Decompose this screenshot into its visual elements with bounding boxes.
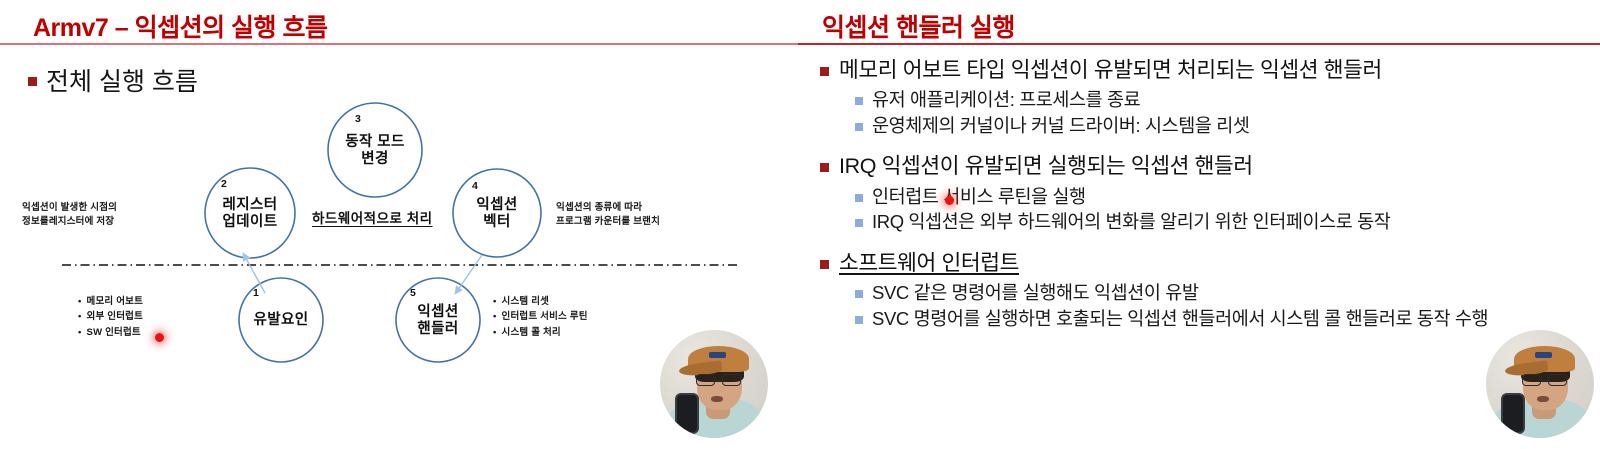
- square-bullet-icon: [855, 97, 863, 105]
- webcam-overlay-right[interactable]: [1486, 330, 1594, 438]
- circle-5-number: 5: [410, 287, 416, 299]
- bullet-lv2: 운영체제의 커널이나 커널 드라이버: 시스템을 리셋: [810, 115, 1600, 138]
- circle-1-label: 유발요인: [231, 312, 331, 329]
- bullet-lv1-label: 메모리 어보트 타입 익셉션이 유발되면 처리되는 익셉션 핸들러: [839, 58, 1382, 83]
- bullet-lv2-label: 유저 애플리케이션: 프로세스를 종료: [872, 89, 1140, 112]
- list-handler-actions: 시스템 리셋 인터럽트 서비스 루틴 시스템 콜 처리: [493, 294, 588, 340]
- bullet-lv2-label: 인터럽트 서비스 루틴을 실행: [872, 186, 1086, 209]
- bullet-lv2-label: 운영체제의 커널이나 커널 드라이버: 시스템을 리셋: [872, 115, 1249, 138]
- bullet-list: 메모리 어보트 타입 익셉션이 유발되면 처리되는 익셉션 핸들러 유저 애플리…: [810, 58, 1600, 347]
- bullet-lv1: 소프트웨어 인터럽트: [810, 251, 1600, 276]
- slide-left-title: Armv7 – 익셉션의 실행 흐름: [33, 8, 328, 44]
- bullet-lv1: 메모리 어보트 타입 익셉션이 유발되면 처리되는 익셉션 핸들러: [810, 58, 1600, 83]
- bullet-lv2-label: SVC 같은 명령어를 실행해도 익셉션이 유발: [872, 282, 1198, 305]
- circle-3-number: 3: [355, 113, 361, 125]
- square-bullet-icon: [855, 290, 863, 298]
- square-bullet-icon: [855, 123, 863, 131]
- bullet-lv2: 인터럽트 서비스 루틴을 실행: [810, 186, 1600, 209]
- webcam-glasses: [696, 374, 741, 386]
- webcam-cap-logo: [709, 352, 726, 358]
- circle-2-label: 레지스터 업데이트: [200, 197, 300, 230]
- circle-1-number: 1: [253, 287, 259, 299]
- list-trigger-causes: 메모리 어보트 외부 인터럽트 SW 인터럽트: [78, 294, 143, 340]
- square-bullet-icon: [28, 77, 37, 86]
- left-section-heading: 전체 실행 흐름: [28, 62, 198, 98]
- label-exception-info-save: 익셉션이 발생한 시점의 정보를레지스터에 저장: [22, 201, 117, 229]
- cursor-pointer-left: [155, 333, 164, 342]
- webcam-phone: [1501, 393, 1525, 434]
- square-bullet-icon: [820, 67, 829, 76]
- bullet-group-software-interrupt: 소프트웨어 인터럽트 SVC 같은 명령어를 실행해도 익셉션이 유발 SVC …: [810, 251, 1600, 330]
- circle-4-number: 4: [472, 180, 478, 192]
- slide-left-title-rule: [0, 43, 798, 45]
- bullet-lv1-label: 소프트웨어 인터럽트: [839, 251, 1019, 276]
- left-section-heading-label: 전체 실행 흐름: [46, 62, 198, 98]
- webcam-overlay-left[interactable]: [660, 330, 768, 438]
- circle-2-number: 2: [221, 178, 227, 190]
- webcam-phone: [675, 393, 699, 434]
- square-bullet-icon: [855, 316, 863, 324]
- bullet-lv2: IRQ 익셉션은 외부 하드웨어의 변화를 알리기 위한 인터페이스로 동작: [810, 211, 1600, 234]
- bullet-lv1-label: IRQ 익셉션이 유발되면 실행되는 익셉션 핸들러: [839, 154, 1253, 179]
- bullet-lv2: SVC 같은 명령어를 실행해도 익셉션이 유발: [810, 282, 1600, 305]
- presentation-screen: Armv7 – 익셉션의 실행 흐름 전체 실행 흐름: [0, 0, 1600, 449]
- bullet-lv2: 유저 애플리케이션: 프로세스를 종료: [810, 89, 1600, 112]
- bullet-lv1: IRQ 익셉션이 유발되면 실행되는 익셉션 핸들러: [810, 154, 1600, 179]
- webcam-cap-logo: [1535, 352, 1552, 358]
- bullet-lv2: SVC 명령어를 실행하면 호출되는 익셉션 핸들러에서 시스템 콜 핸들러로 …: [810, 308, 1600, 331]
- webcam-glasses: [1522, 374, 1567, 386]
- slide-right-title: 익셉션 핸들러 실행: [822, 8, 1015, 44]
- webcam-mouth: [711, 396, 723, 402]
- bullet-lv2-label: IRQ 익셉션은 외부 하드웨어의 변화를 알리기 위한 인터페이스로 동작: [872, 211, 1390, 234]
- label-branch-pc: 익셉션의 종류에 따라 프로그램 카운터를 브랜치: [556, 201, 660, 229]
- label-hardware-processing: 하드웨어적으로 처리: [312, 207, 433, 227]
- square-bullet-icon: [820, 260, 829, 269]
- cursor-pointer-right: [945, 196, 954, 205]
- circle-5-label: 익셉션 핸들러: [388, 304, 488, 337]
- bullet-group-memory-abort: 메모리 어보트 타입 익셉션이 유발되면 처리되는 익셉션 핸들러 유저 애플리…: [810, 58, 1600, 137]
- slide-right: 익셉션 핸들러 실행 메모리 어보트 타입 익셉션이 유발되면 처리되는 익셉션…: [798, 0, 1600, 449]
- bullet-group-irq: IRQ 익셉션이 유발되면 실행되는 익셉션 핸들러 인터럽트 서비스 루틴을 …: [810, 154, 1600, 233]
- square-bullet-icon: [820, 163, 829, 172]
- slide-right-title-rule: [798, 43, 1600, 45]
- bullet-lv2-label: SVC 명령어를 실행하면 호출되는 익셉션 핸들러에서 시스템 콜 핸들러로 …: [872, 308, 1488, 331]
- slide-left: Armv7 – 익셉션의 실행 흐름 전체 실행 흐름: [0, 0, 798, 449]
- arrow-vector-to-handler: [455, 255, 482, 294]
- circle-4-label: 익셉션 벡터: [447, 197, 547, 230]
- circle-3-label: 동작 모드 변경: [325, 134, 425, 167]
- webcam-mouth: [1537, 396, 1549, 402]
- square-bullet-icon: [855, 194, 863, 202]
- square-bullet-icon: [855, 219, 863, 227]
